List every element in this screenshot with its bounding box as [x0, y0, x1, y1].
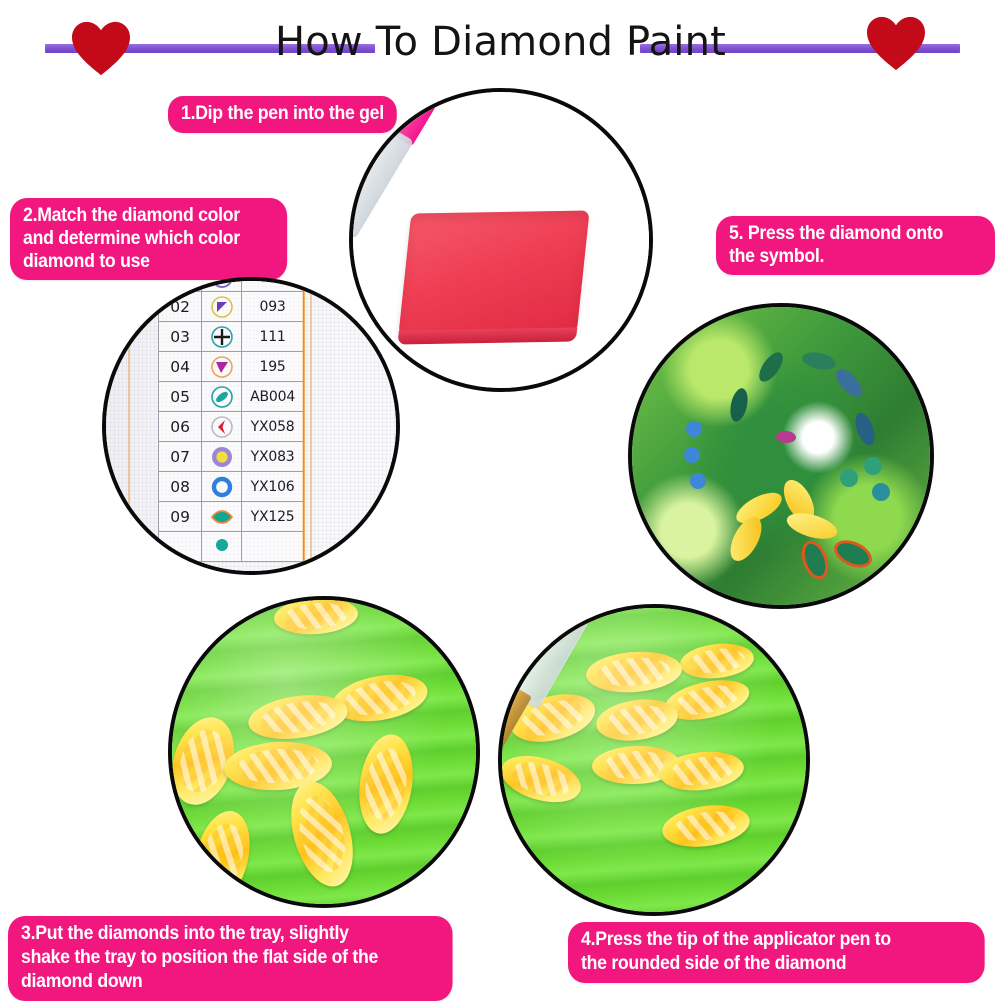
chart-row-no: 06 — [159, 412, 202, 442]
gel-pad — [398, 210, 589, 335]
applicator-pen — [502, 608, 606, 781]
chart-row-code: 195 — [242, 352, 304, 382]
page-title: How To Diamond Paint — [0, 13, 1001, 71]
purple-triangle-symbol-icon — [202, 292, 242, 322]
chart-row-no: 07 — [159, 442, 202, 472]
chart-row-no: 08 — [159, 472, 202, 502]
chart-row-code: YX083 — [242, 442, 304, 472]
step-5-label: 5. Press the diamond onto the symbol. — [716, 216, 995, 275]
chart-row-no: 02 — [159, 292, 202, 322]
step-4-photo — [498, 604, 810, 916]
diamond-tray — [172, 600, 476, 904]
chart-row-no — [159, 281, 202, 292]
step-3-label: 3.Put the diamonds into the tray, slight… — [8, 916, 453, 1001]
step-4-label: 4.Press the tip of the applicator pen to… — [568, 922, 985, 983]
chart-row-code: 093 — [242, 292, 304, 322]
applicator-pen — [632, 307, 690, 479]
table-row: 09 YX125 — [159, 502, 304, 532]
yellow-dot-symbol-icon — [202, 442, 242, 472]
table-row: 08 YX106 — [159, 472, 304, 502]
chart-row-code: YX058 — [242, 412, 304, 442]
step-2-label: 2.Match the diamond color and determine … — [10, 198, 287, 280]
table-row: 020 — [159, 281, 304, 292]
step-4-text: 4.Press the tip of the applicator pen to… — [581, 928, 972, 976]
teal-dot-symbol-icon — [202, 532, 242, 562]
red-arrow-symbol-icon — [202, 412, 242, 442]
plus-cross-symbol-icon — [202, 322, 242, 352]
infographic-canvas: How To Diamond Paint 1.Dip the pen into … — [0, 0, 1001, 1001]
table-row: 04 195 — [159, 352, 304, 382]
mandala-canvas — [632, 307, 930, 605]
diamond-tray — [502, 608, 806, 912]
chart-row-no: 04 — [159, 352, 202, 382]
chart-row-code: AB004 — [242, 382, 304, 412]
chart-row-no: 03 — [159, 322, 202, 352]
step-5-text: 5. Press the diamond onto the symbol. — [729, 222, 982, 268]
step-2-text: 2.Match the diamond color and determine … — [23, 204, 274, 273]
chart-row-no: 05 — [159, 382, 202, 412]
blue-ring-symbol-icon — [202, 472, 242, 502]
table-row — [159, 532, 304, 562]
chart-row-no — [159, 532, 202, 562]
table-row: 05 AB004 — [159, 382, 304, 412]
smiley-symbol-icon — [202, 281, 242, 292]
chart-row-code — [242, 532, 304, 562]
color-chart-table: 020 02 093 03 111 — [158, 281, 304, 562]
header: How To Diamond Paint — [0, 0, 1001, 86]
chart-row-no: 09 — [159, 502, 202, 532]
chart-row-code: 020 — [242, 281, 304, 292]
chart-row-code: 111 — [242, 322, 304, 352]
magenta-triangle-symbol-icon — [202, 352, 242, 382]
table-row: 03 111 — [159, 322, 304, 352]
teal-leaf-symbol-icon — [202, 502, 242, 532]
chart-row-code: YX106 — [242, 472, 304, 502]
step-5-photo — [628, 303, 934, 609]
chart-row-code: YX125 — [242, 502, 304, 532]
table-row: 06 YX058 — [159, 412, 304, 442]
table-row: 07 YX083 — [159, 442, 304, 472]
step-3-text: 3.Put the diamonds into the tray, slight… — [21, 922, 440, 994]
teal-ellipse-symbol-icon — [202, 382, 242, 412]
step-2-photo: 020 02 093 03 111 — [102, 277, 400, 575]
step-3-photo — [168, 596, 480, 908]
table-row: 02 093 — [159, 292, 304, 322]
